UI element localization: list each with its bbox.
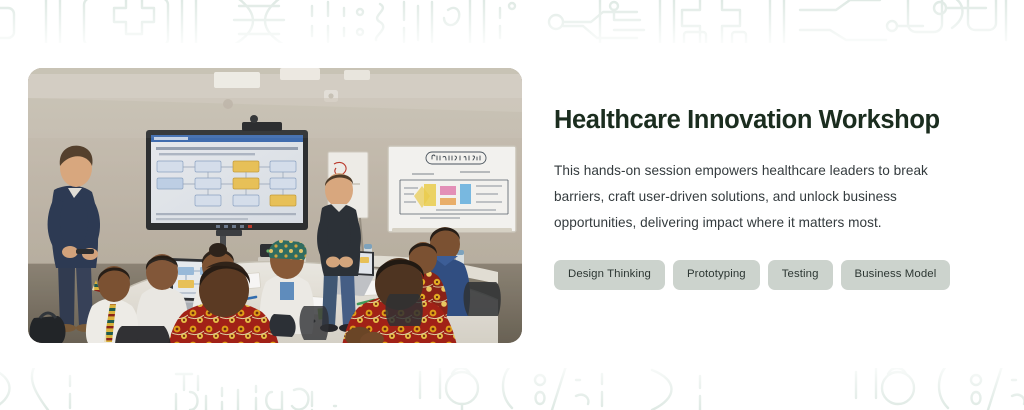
workshop-photo xyxy=(28,68,522,343)
page-title: Healthcare Innovation Workshop xyxy=(554,105,994,135)
background-pattern-top xyxy=(0,0,1024,46)
tag-list: Design Thinking Prototyping Testing Busi… xyxy=(554,260,994,290)
background-pattern-bottom xyxy=(0,362,1024,410)
tag-prototyping[interactable]: Prototyping xyxy=(673,260,760,290)
tag-design-thinking[interactable]: Design Thinking xyxy=(554,260,665,290)
tag-testing[interactable]: Testing xyxy=(768,260,833,290)
workshop-description: This hands-on session empowers healthcar… xyxy=(554,158,978,236)
workshop-details: Healthcare Innovation Workshop This hand… xyxy=(554,105,994,290)
workshop-card: Healthcare Innovation Workshop This hand… xyxy=(6,43,1024,368)
tag-business-model[interactable]: Business Model xyxy=(841,260,951,290)
